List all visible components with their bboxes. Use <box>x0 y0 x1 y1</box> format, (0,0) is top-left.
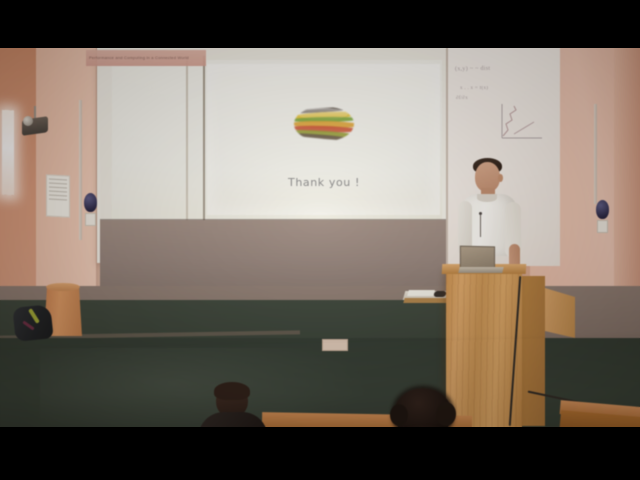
scene-viewport: Performance and Computing in a Connected… <box>0 48 640 427</box>
room-banner-text: Performance and Computing in a Connected… <box>86 50 206 60</box>
slide-title-text: Thank you ! <box>288 176 360 189</box>
sconce-box <box>597 220 608 233</box>
window-light-strip <box>2 110 14 196</box>
sign-line <box>49 187 67 189</box>
room-banner: Performance and Computing in a Connected… <box>86 50 206 66</box>
attendee-hair <box>214 382 250 400</box>
wall-conduit-left <box>79 100 82 240</box>
sign-line <box>49 195 67 197</box>
attendee-hair-curl <box>436 402 456 426</box>
sign-line <box>49 179 67 181</box>
sign-line <box>49 183 67 185</box>
attendee-jacket <box>198 412 268 427</box>
sconce-bulb <box>84 193 97 212</box>
sconce-bulb <box>596 200 609 219</box>
whiteboard-line-3: ∂f/∂x <box>456 96 468 101</box>
table-papers <box>407 290 435 296</box>
lower-wall-panel <box>100 220 446 286</box>
attendee-hair-curl <box>390 404 408 426</box>
wall-conduit-right <box>594 104 597 204</box>
presenter-remote <box>433 291 446 297</box>
microphone-cord <box>480 215 481 237</box>
whiteboard-line-2: x . . x = f(x) <box>460 86 488 91</box>
wall-notice-sign <box>46 174 70 217</box>
audience-member-left <box>196 384 270 427</box>
projector-lens-icon <box>23 116 33 126</box>
laptop-keyboard-base <box>458 267 503 273</box>
sign-line <box>49 199 67 201</box>
whiteboard-axes-diagram <box>494 98 546 142</box>
presenter-ear <box>498 174 503 182</box>
sconce-box <box>85 213 96 226</box>
whiteboard-line-1: (x,y) ~ ~ dist <box>455 66 490 73</box>
support-pillar-top <box>46 283 80 291</box>
wall-sconce-right-icon <box>596 200 609 233</box>
sign-line <box>49 191 67 193</box>
logo-gloss <box>298 108 348 120</box>
video-frame-stage: Performance and Computing in a Connected… <box>0 0 640 480</box>
audience-member-right <box>378 388 470 427</box>
wall-sconce-left-icon <box>84 193 97 226</box>
letterbox-top <box>0 0 640 48</box>
letterbox-bottom <box>0 427 640 480</box>
presenter-collar <box>477 194 497 202</box>
slide-content: Thank you ! <box>210 66 438 214</box>
slide-logo <box>294 107 354 141</box>
